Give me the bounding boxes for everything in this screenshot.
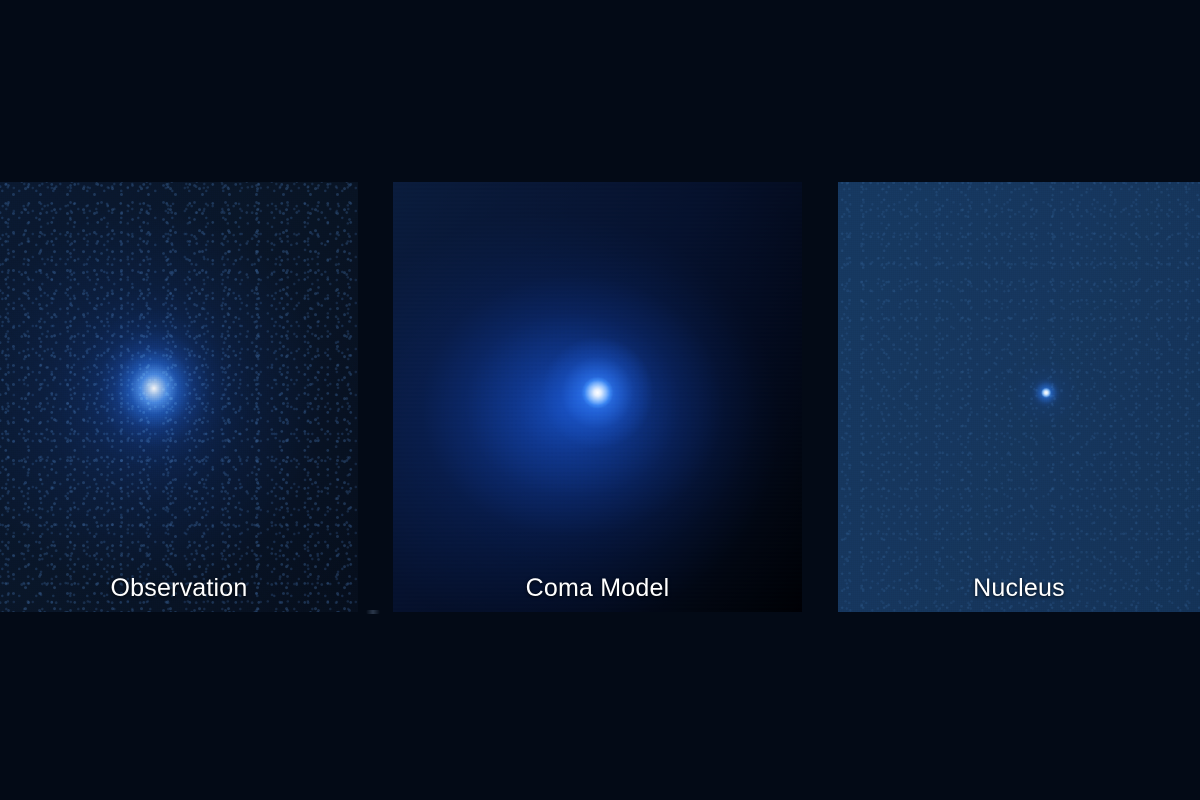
panel-nucleus bbox=[838, 182, 1200, 612]
nucleus-grain-texture bbox=[838, 182, 1200, 612]
comet-comparison-figure: Observation Coma Model Nucleus bbox=[0, 0, 1200, 800]
panel-observation bbox=[0, 182, 358, 612]
coma-model-banding-texture bbox=[393, 182, 802, 612]
observation-grain-texture bbox=[0, 182, 358, 612]
panel-coma-model bbox=[393, 182, 802, 612]
image-artifact-streak bbox=[366, 610, 380, 614]
